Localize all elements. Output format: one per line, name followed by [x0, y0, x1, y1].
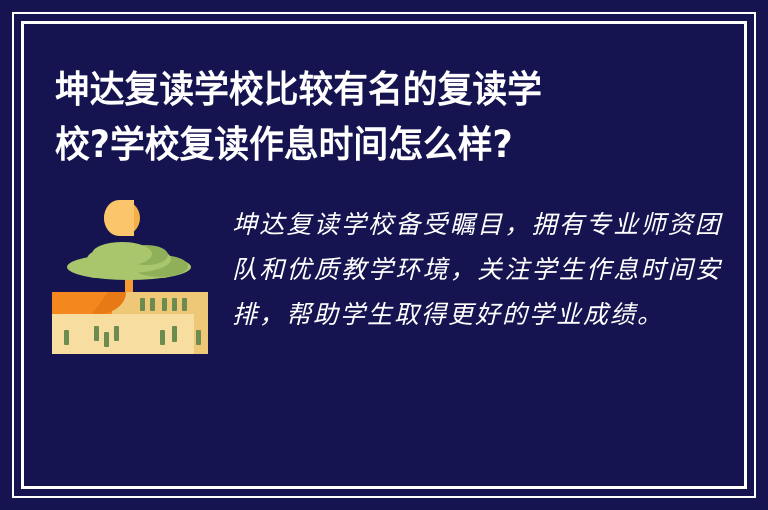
sun-highlight-icon [104, 200, 134, 236]
illustration-container [40, 192, 220, 362]
school-building-icon [52, 292, 208, 354]
content-row: 坤达复读学校备受瞩目，拥有专业师资团队和优质教学环境，关注学生作息时间安排，帮助… [40, 192, 722, 362]
poster-title: 坤达复读学校比较有名的复读学 校?学校复读作息时间怎么样? [55, 62, 544, 172]
poster-body-text: 坤达复读学校备受瞩目，拥有专业师资团队和优质教学环境，关注学生作息时间安排，帮助… [232, 192, 722, 337]
poster-canvas: 坤达复读学校比较有名的复读学 校?学校复读作息时间怎么样? [0, 0, 768, 510]
school-campus-illustration [40, 192, 220, 362]
